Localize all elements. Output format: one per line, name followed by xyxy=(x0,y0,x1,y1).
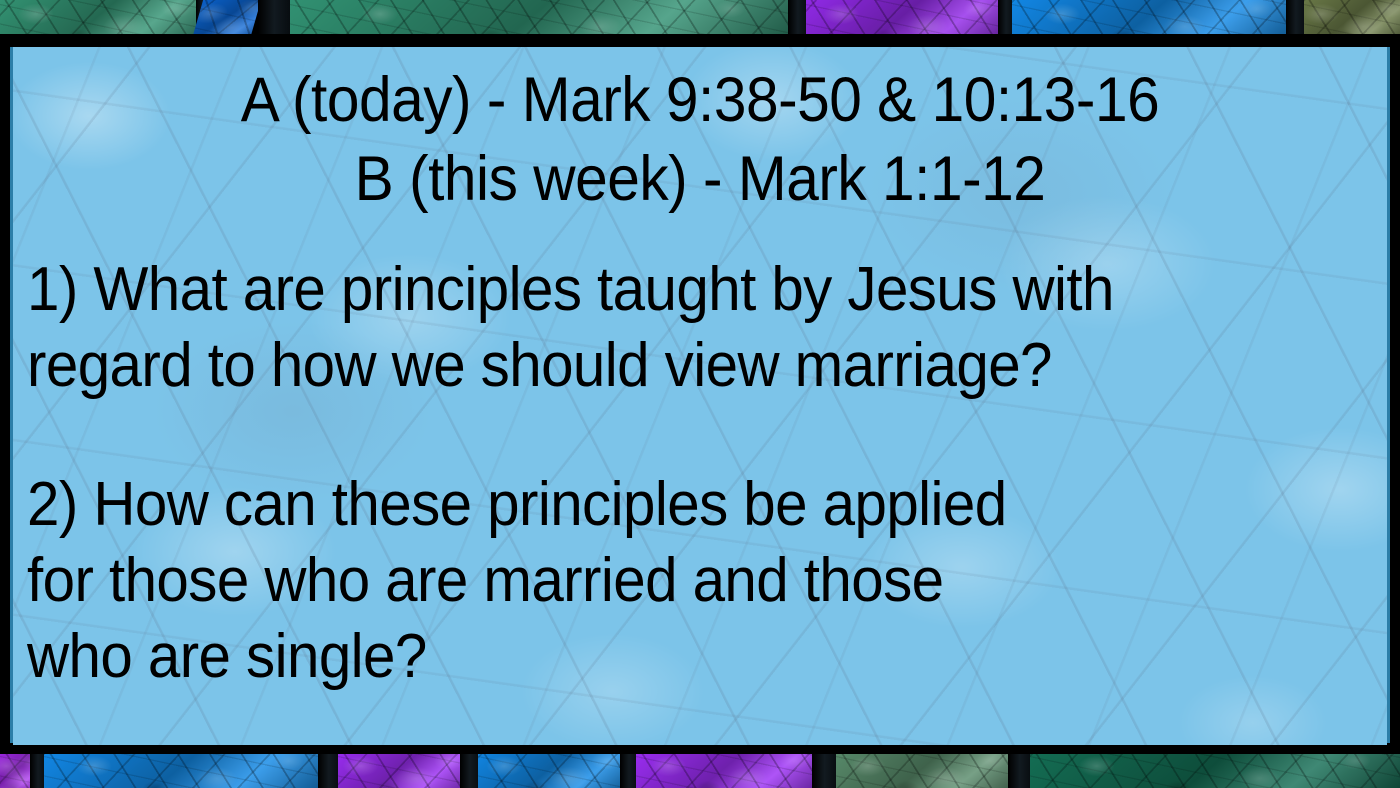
glass-pane-purple-pane-1 xyxy=(338,752,464,788)
scripture-reading-title: A (today) - Mark 9:38-50 & 10:13-16 B (t… xyxy=(13,61,1387,219)
glass-pane-teal-pane xyxy=(1030,752,1400,788)
slide-content: A (today) - Mark 9:38-50 & 10:13-16 B (t… xyxy=(13,47,1387,745)
question-2-line-2: for those who are married and those xyxy=(27,543,1287,619)
question-item-2: 2) How can these principles be applied f… xyxy=(27,467,1287,694)
glass-pane-purple-pane-left xyxy=(0,752,34,788)
glass-pane-sage-pane xyxy=(836,752,1012,788)
glass-pane-green-pane-mid xyxy=(290,0,790,36)
question-2-line-1: 2) How can these principles be applied xyxy=(27,467,1287,543)
question-1-line-1: 1) What are principles taught by Jesus w… xyxy=(27,252,1287,328)
presentation-slide: A (today) - Mark 9:38-50 & 10:13-16 B (t… xyxy=(0,0,1400,788)
title-line-a: A (today) - Mark 9:38-50 & 10:13-16 xyxy=(61,61,1339,140)
glass-pane-purple-pane xyxy=(806,0,1002,36)
stained-glass-top-band xyxy=(0,0,1400,36)
content-panel: A (today) - Mark 9:38-50 & 10:13-16 B (t… xyxy=(13,47,1387,745)
question-item-1: 1) What are principles taught by Jesus w… xyxy=(27,252,1287,403)
stained-glass-bottom-band xyxy=(0,752,1400,788)
title-line-b: B (this week) - Mark 1:1-12 xyxy=(61,140,1339,219)
glass-pane-blue-pane-right xyxy=(1012,0,1290,36)
glass-pane-blue-pane-diag xyxy=(189,0,264,36)
discussion-questions-list: 1) What are principles taught by Jesus w… xyxy=(27,252,1367,694)
question-1-line-2: regard to how we should view marriage? xyxy=(27,328,1287,404)
glass-pane-blue-pane-2 xyxy=(478,752,624,788)
question-2-line-3: who are single? xyxy=(27,619,1287,695)
glass-pane-green-pane-left xyxy=(0,0,200,36)
glass-pane-purple-pane-2 xyxy=(636,752,816,788)
glass-pane-olive-pane xyxy=(1304,0,1400,36)
glass-pane-lead-came-2 xyxy=(258,0,294,36)
glass-pane-blue-pane-1 xyxy=(44,752,322,788)
question-spacer xyxy=(27,403,1367,467)
